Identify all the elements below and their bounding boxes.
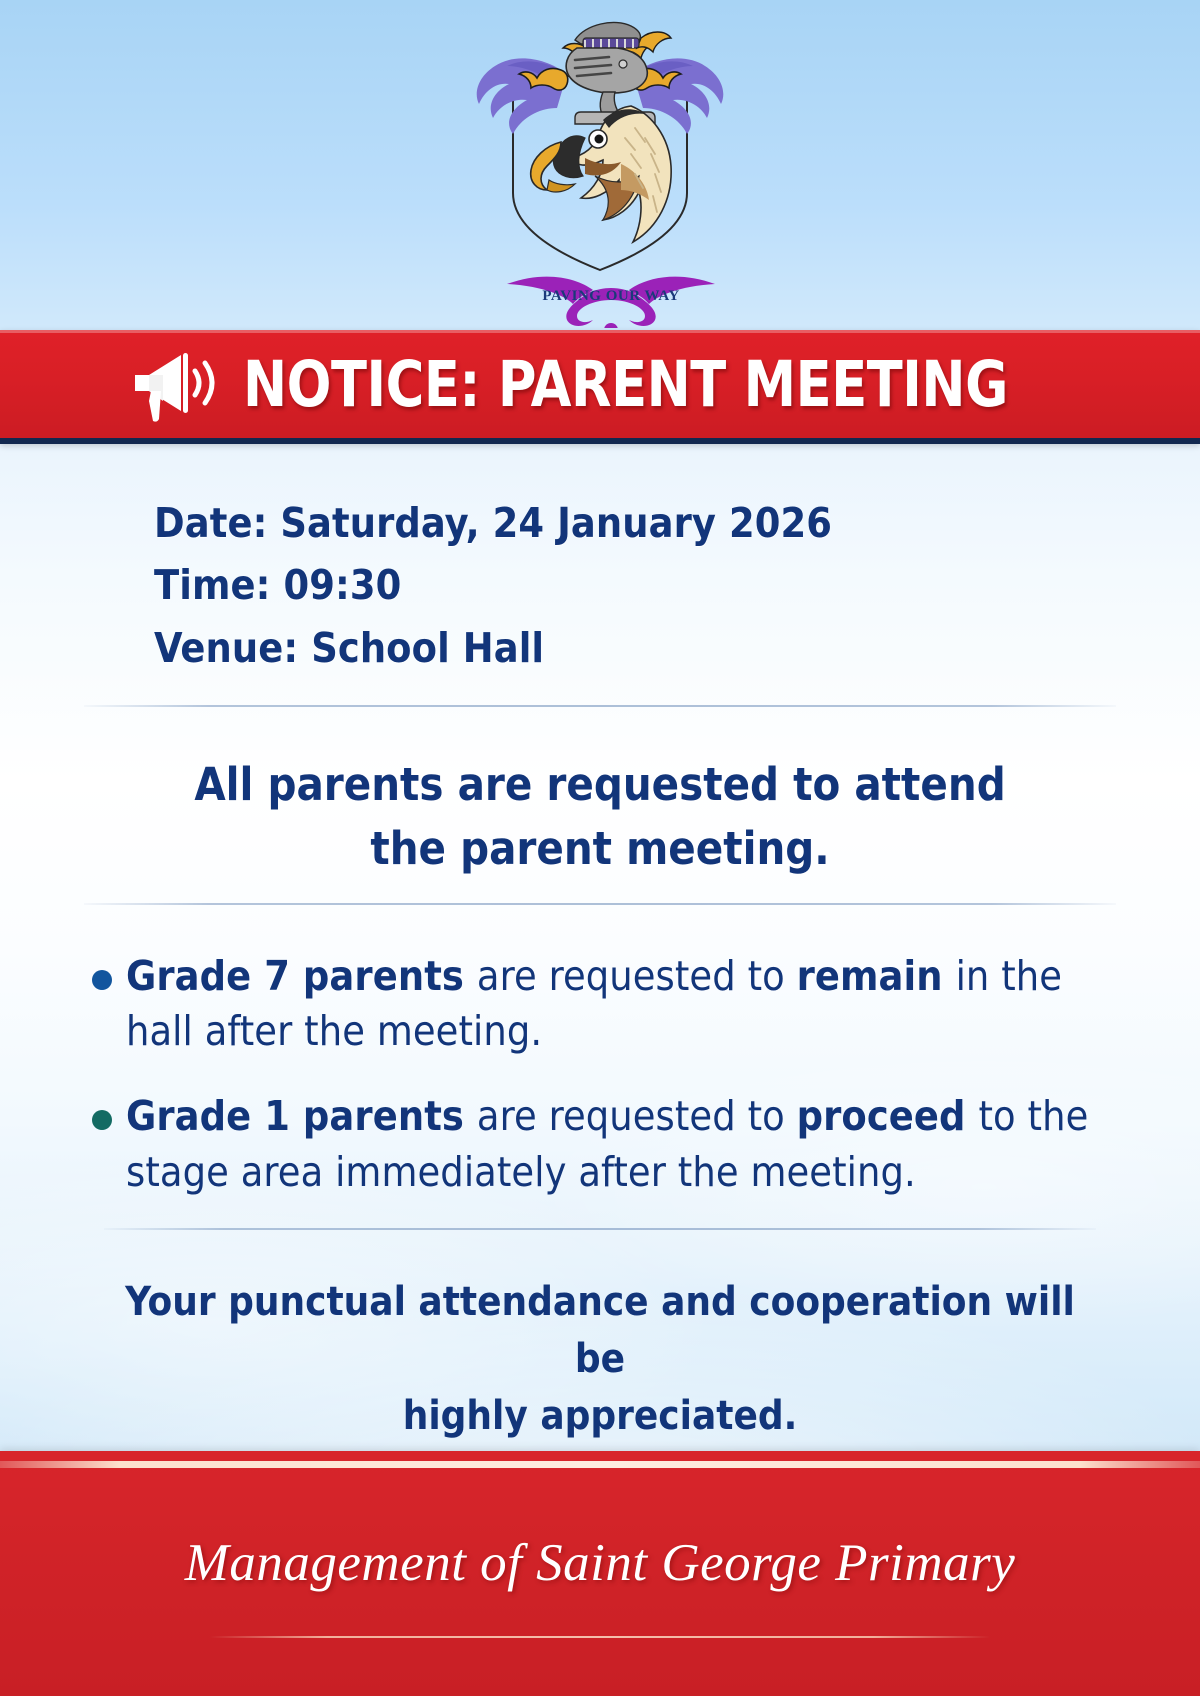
footer-top-rule — [0, 1461, 1200, 1468]
main-statement-line1: All parents are requested to attend — [108, 753, 1092, 817]
list-item: Grade 1 parents are requested to proceed… — [92, 1089, 1112, 1200]
main-statement-line2: the parent meeting. — [108, 817, 1092, 881]
footer-band: Management of Saint George Primary — [0, 1451, 1200, 1696]
main-statement: All parents are requested to attend the … — [78, 753, 1122, 881]
detail-venue-label: Venue: — [154, 624, 311, 672]
megaphone-icon — [129, 349, 225, 423]
divider-top — [84, 705, 1116, 707]
detail-time-value: 09:30 — [283, 561, 401, 609]
notice-poster: PAVING OUR WAY NOTICE: PARENT MEETING Da… — [0, 0, 1200, 1696]
closing-note-line1: Your punctual attendance and cooperation… — [118, 1274, 1082, 1388]
bullet-dot-grade1 — [92, 1110, 112, 1130]
closing-note-line2: highly appreciated. — [118, 1388, 1082, 1445]
notice-header-band: NOTICE: PARENT MEETING — [0, 330, 1200, 444]
detail-venue: Venue: School Hall — [154, 617, 1122, 679]
divider-middle — [84, 903, 1116, 905]
school-crest: PAVING OUR WAY — [435, 8, 765, 328]
event-details: Date: Saturday, 24 January 2026 Time: 09… — [78, 484, 1122, 679]
bullet-dot-grade7 — [92, 970, 112, 990]
crest-motto: PAVING OUR WAY — [542, 288, 679, 304]
bullet-text-grade7: Grade 7 parents are requested to remain … — [126, 949, 1112, 1060]
divider-bottom — [104, 1228, 1096, 1230]
detail-date-label: Date: — [154, 499, 280, 547]
footer-signature: Management of Saint George Primary — [0, 1533, 1200, 1593]
detail-time: Time: 09:30 — [154, 554, 1122, 616]
detail-date: Date: Saturday, 24 January 2026 — [154, 492, 1122, 554]
notice-content: Date: Saturday, 24 January 2026 Time: 09… — [0, 444, 1200, 1444]
page-title: NOTICE: PARENT MEETING — [243, 353, 1008, 416]
detail-date-value: Saturday, 24 January 2026 — [280, 499, 832, 547]
closing-note: Your punctual attendance and cooperation… — [78, 1274, 1122, 1444]
instruction-list: Grade 7 parents are requested to remain … — [78, 949, 1122, 1200]
detail-venue-value: School Hall — [311, 624, 544, 672]
crest-area: PAVING OUR WAY — [0, 0, 1200, 330]
bullet-text-grade1: Grade 1 parents are requested to proceed… — [126, 1089, 1112, 1200]
footer-bottom-rule — [210, 1636, 990, 1638]
detail-time-label: Time: — [154, 561, 283, 609]
list-item: Grade 7 parents are requested to remain … — [92, 949, 1112, 1060]
